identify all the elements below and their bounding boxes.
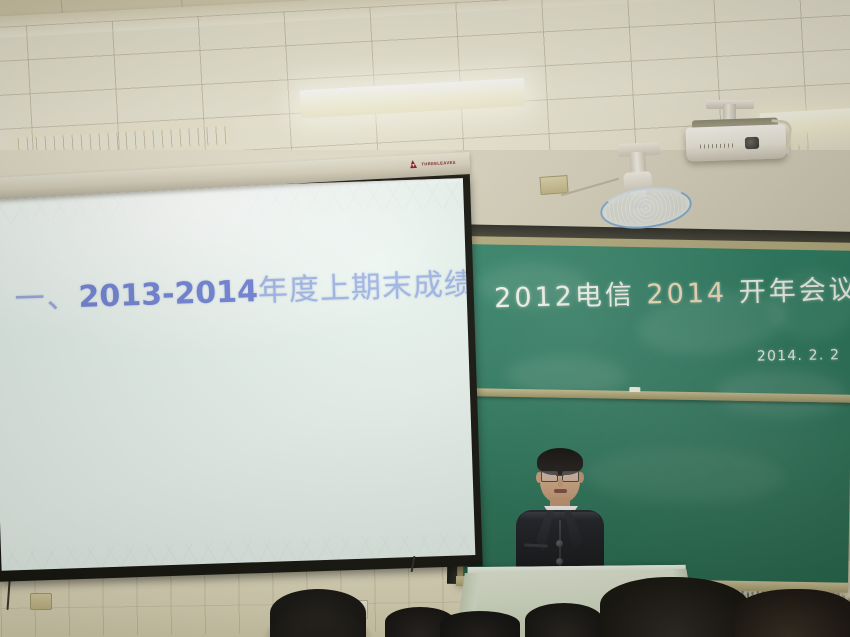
projector-cable <box>768 119 792 154</box>
slide-heading-suffix: 年度上期末成绩 <box>257 267 475 309</box>
screen-brand: THREELEAVES <box>409 158 456 169</box>
power-outlet-icon <box>30 593 52 610</box>
glasses-lens <box>541 471 558 482</box>
wall-junction-box <box>539 175 568 195</box>
presenter-brow <box>564 468 577 470</box>
chalkboard-headline-event: 开年会议 <box>738 274 850 308</box>
audience-head <box>600 577 750 637</box>
presenter-mouth <box>554 489 567 493</box>
screen-surface: 一、2013-2014年度上期末成绩 <box>0 178 475 571</box>
presenter <box>500 448 620 578</box>
chalkboard-headline-dept: 电信 <box>575 280 636 312</box>
slide-heading-years: 2013-2014 <box>78 274 259 315</box>
classroom-scene: THREELEAVES 一、2013-2014年度上期末成绩 2012电信 20… <box>0 0 850 637</box>
projector-lens-icon <box>745 137 759 149</box>
chalkboard-date: 2014. 2. 2 <box>757 347 841 364</box>
chalkboard-headline-year: 2014 <box>646 278 727 311</box>
presenter-nose <box>558 479 563 487</box>
three-diamond-icon <box>409 160 418 168</box>
audience-head <box>440 611 520 637</box>
presenter-brow <box>542 468 555 470</box>
screen-brand-label: THREELEAVES <box>421 159 456 166</box>
slide-heading-prefix: 一、 <box>14 280 79 317</box>
slide-heading: 一、2013-2014年度上期末成绩 <box>14 270 475 315</box>
audience-head <box>525 603 603 637</box>
audience-head <box>735 589 850 637</box>
chalkboard-headline-main: 2012 <box>494 281 575 314</box>
presenter-shoulder-highlight <box>520 512 600 520</box>
chalk-piece <box>629 387 640 392</box>
presenter-jacket-button <box>556 558 563 565</box>
glasses-lens <box>562 471 579 482</box>
lectern-top <box>468 565 686 573</box>
projection-screen: 一、2013-2014年度上期末成绩 <box>0 174 483 582</box>
presenter-jacket-button <box>556 540 563 547</box>
audience-head <box>270 589 366 637</box>
